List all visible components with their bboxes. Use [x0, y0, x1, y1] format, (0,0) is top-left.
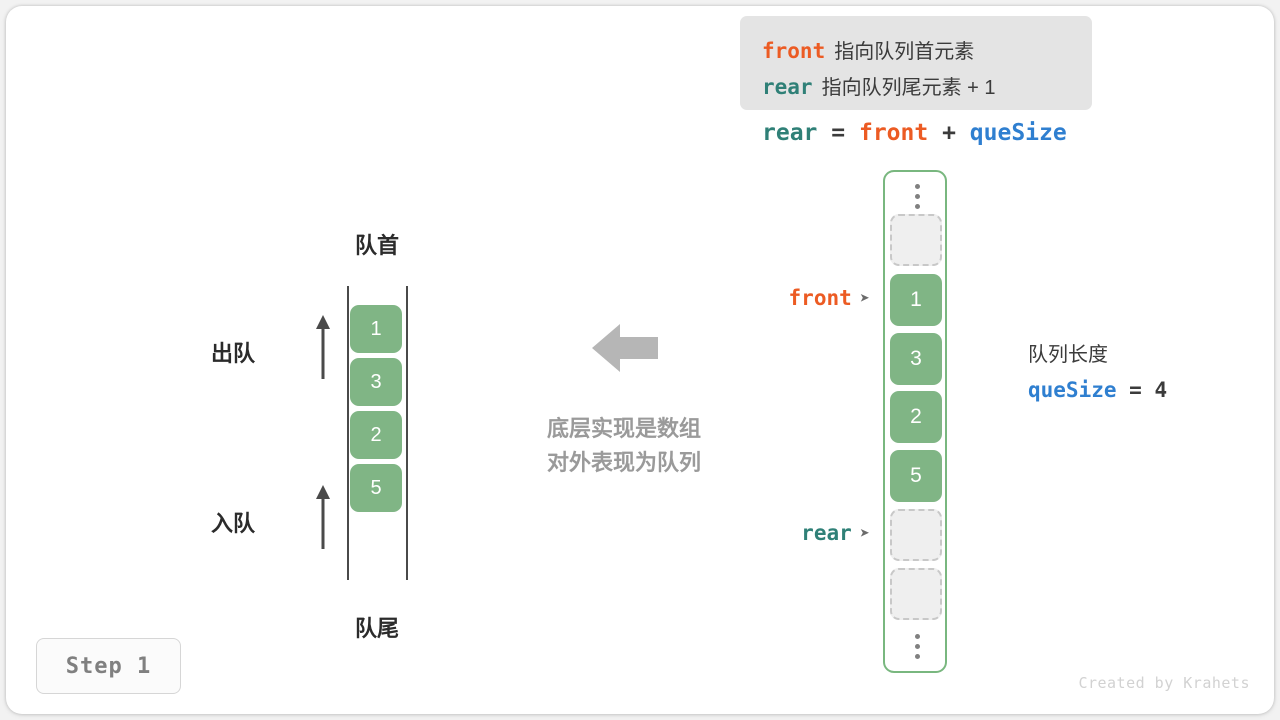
array-cell-1: 1 [890, 274, 942, 326]
queue-size-equals: = [1129, 378, 1142, 402]
legend-line-rear: rear指向队列尾元素 + 1 [762, 77, 996, 98]
queue-item-0: 1 [350, 305, 402, 353]
queue-size-title: 队列长度 [1028, 342, 1167, 368]
formula-operand-quesize: queSize [970, 120, 1067, 146]
legend-keyword-rear: rear [762, 75, 813, 99]
pointer-front-text: front [789, 286, 852, 310]
rear-formula: rear = front + queSize [762, 120, 1067, 146]
implementation-note-line2: 对外表现为队列 [524, 446, 724, 480]
array-cell-5 [890, 509, 942, 561]
ellipsis-bottom-icon [885, 634, 949, 659]
array-cell-3: 2 [890, 391, 942, 443]
formula-plus: + [942, 120, 956, 146]
queue-head-caption: 队首 [317, 228, 437, 260]
queue-rail-right [406, 286, 408, 580]
array-cell-2-value: 3 [910, 347, 922, 371]
pointer-legend-box: front指向队列首元素 rear指向队列尾元素 + 1 [740, 16, 1092, 110]
array-cell-0 [890, 214, 942, 266]
pointer-rear-text: rear [801, 521, 852, 545]
implementation-arrow-icon [592, 320, 658, 376]
queue-tail-caption: 队尾 [317, 611, 437, 643]
queue-item-1-value: 3 [370, 371, 381, 394]
pointer-label-rear: rear➤ [650, 521, 870, 545]
implementation-note-line1: 底层实现是数组 [524, 412, 724, 446]
credit-text: Created by Krahets [1078, 674, 1250, 692]
queue-item-2: 2 [350, 411, 402, 459]
queue-item-1: 3 [350, 358, 402, 406]
legend-desc-front: 指向队列首元素 [834, 41, 974, 63]
queue-size-expression: queSize = 4 [1028, 378, 1167, 402]
pointer-rear-arrow-icon: ➤ [860, 524, 870, 544]
legend-line-front: front指向队列首元素 [762, 41, 974, 62]
dequeue-label: 出队 [175, 336, 255, 368]
pointer-front-arrow-icon: ➤ [860, 289, 870, 309]
formula-equals: = [831, 120, 845, 146]
diagram-canvas: front指向队列首元素 rear指向队列尾元素 + 1 rear = fron… [0, 0, 1280, 720]
enqueue-label: 入队 [175, 506, 255, 538]
queue-size-note: 队列长度 queSize = 4 [1028, 342, 1167, 402]
dequeue-arrow-icon [313, 313, 333, 381]
queue-item-3: 5 [350, 464, 402, 512]
enqueue-arrow-icon [313, 483, 333, 551]
array-container: 1 3 2 5 [883, 170, 947, 673]
queue-size-var: queSize [1028, 378, 1117, 402]
array-cell-3-value: 2 [910, 405, 922, 429]
step-badge: Step 1 [36, 638, 181, 694]
queue-rail-left [347, 286, 349, 580]
array-cell-1-value: 1 [910, 288, 922, 312]
queue-item-2-value: 2 [370, 424, 381, 447]
formula-lhs: rear [762, 120, 817, 146]
pointer-label-front: front➤ [650, 286, 870, 310]
ellipsis-top-icon [885, 184, 949, 209]
implementation-note: 底层实现是数组 对外表现为队列 [524, 412, 724, 480]
queue-item-0-value: 1 [370, 318, 381, 341]
array-cell-6 [890, 568, 942, 620]
queue-size-value: 4 [1154, 378, 1167, 402]
legend-keyword-front: front [762, 39, 825, 63]
array-cell-4: 5 [890, 450, 942, 502]
queue-item-3-value: 5 [370, 477, 381, 500]
array-cell-2: 3 [890, 333, 942, 385]
array-cell-4-value: 5 [910, 464, 922, 488]
formula-operand-front: front [859, 120, 928, 146]
legend-desc-rear: 指向队列尾元素 + 1 [822, 77, 996, 99]
